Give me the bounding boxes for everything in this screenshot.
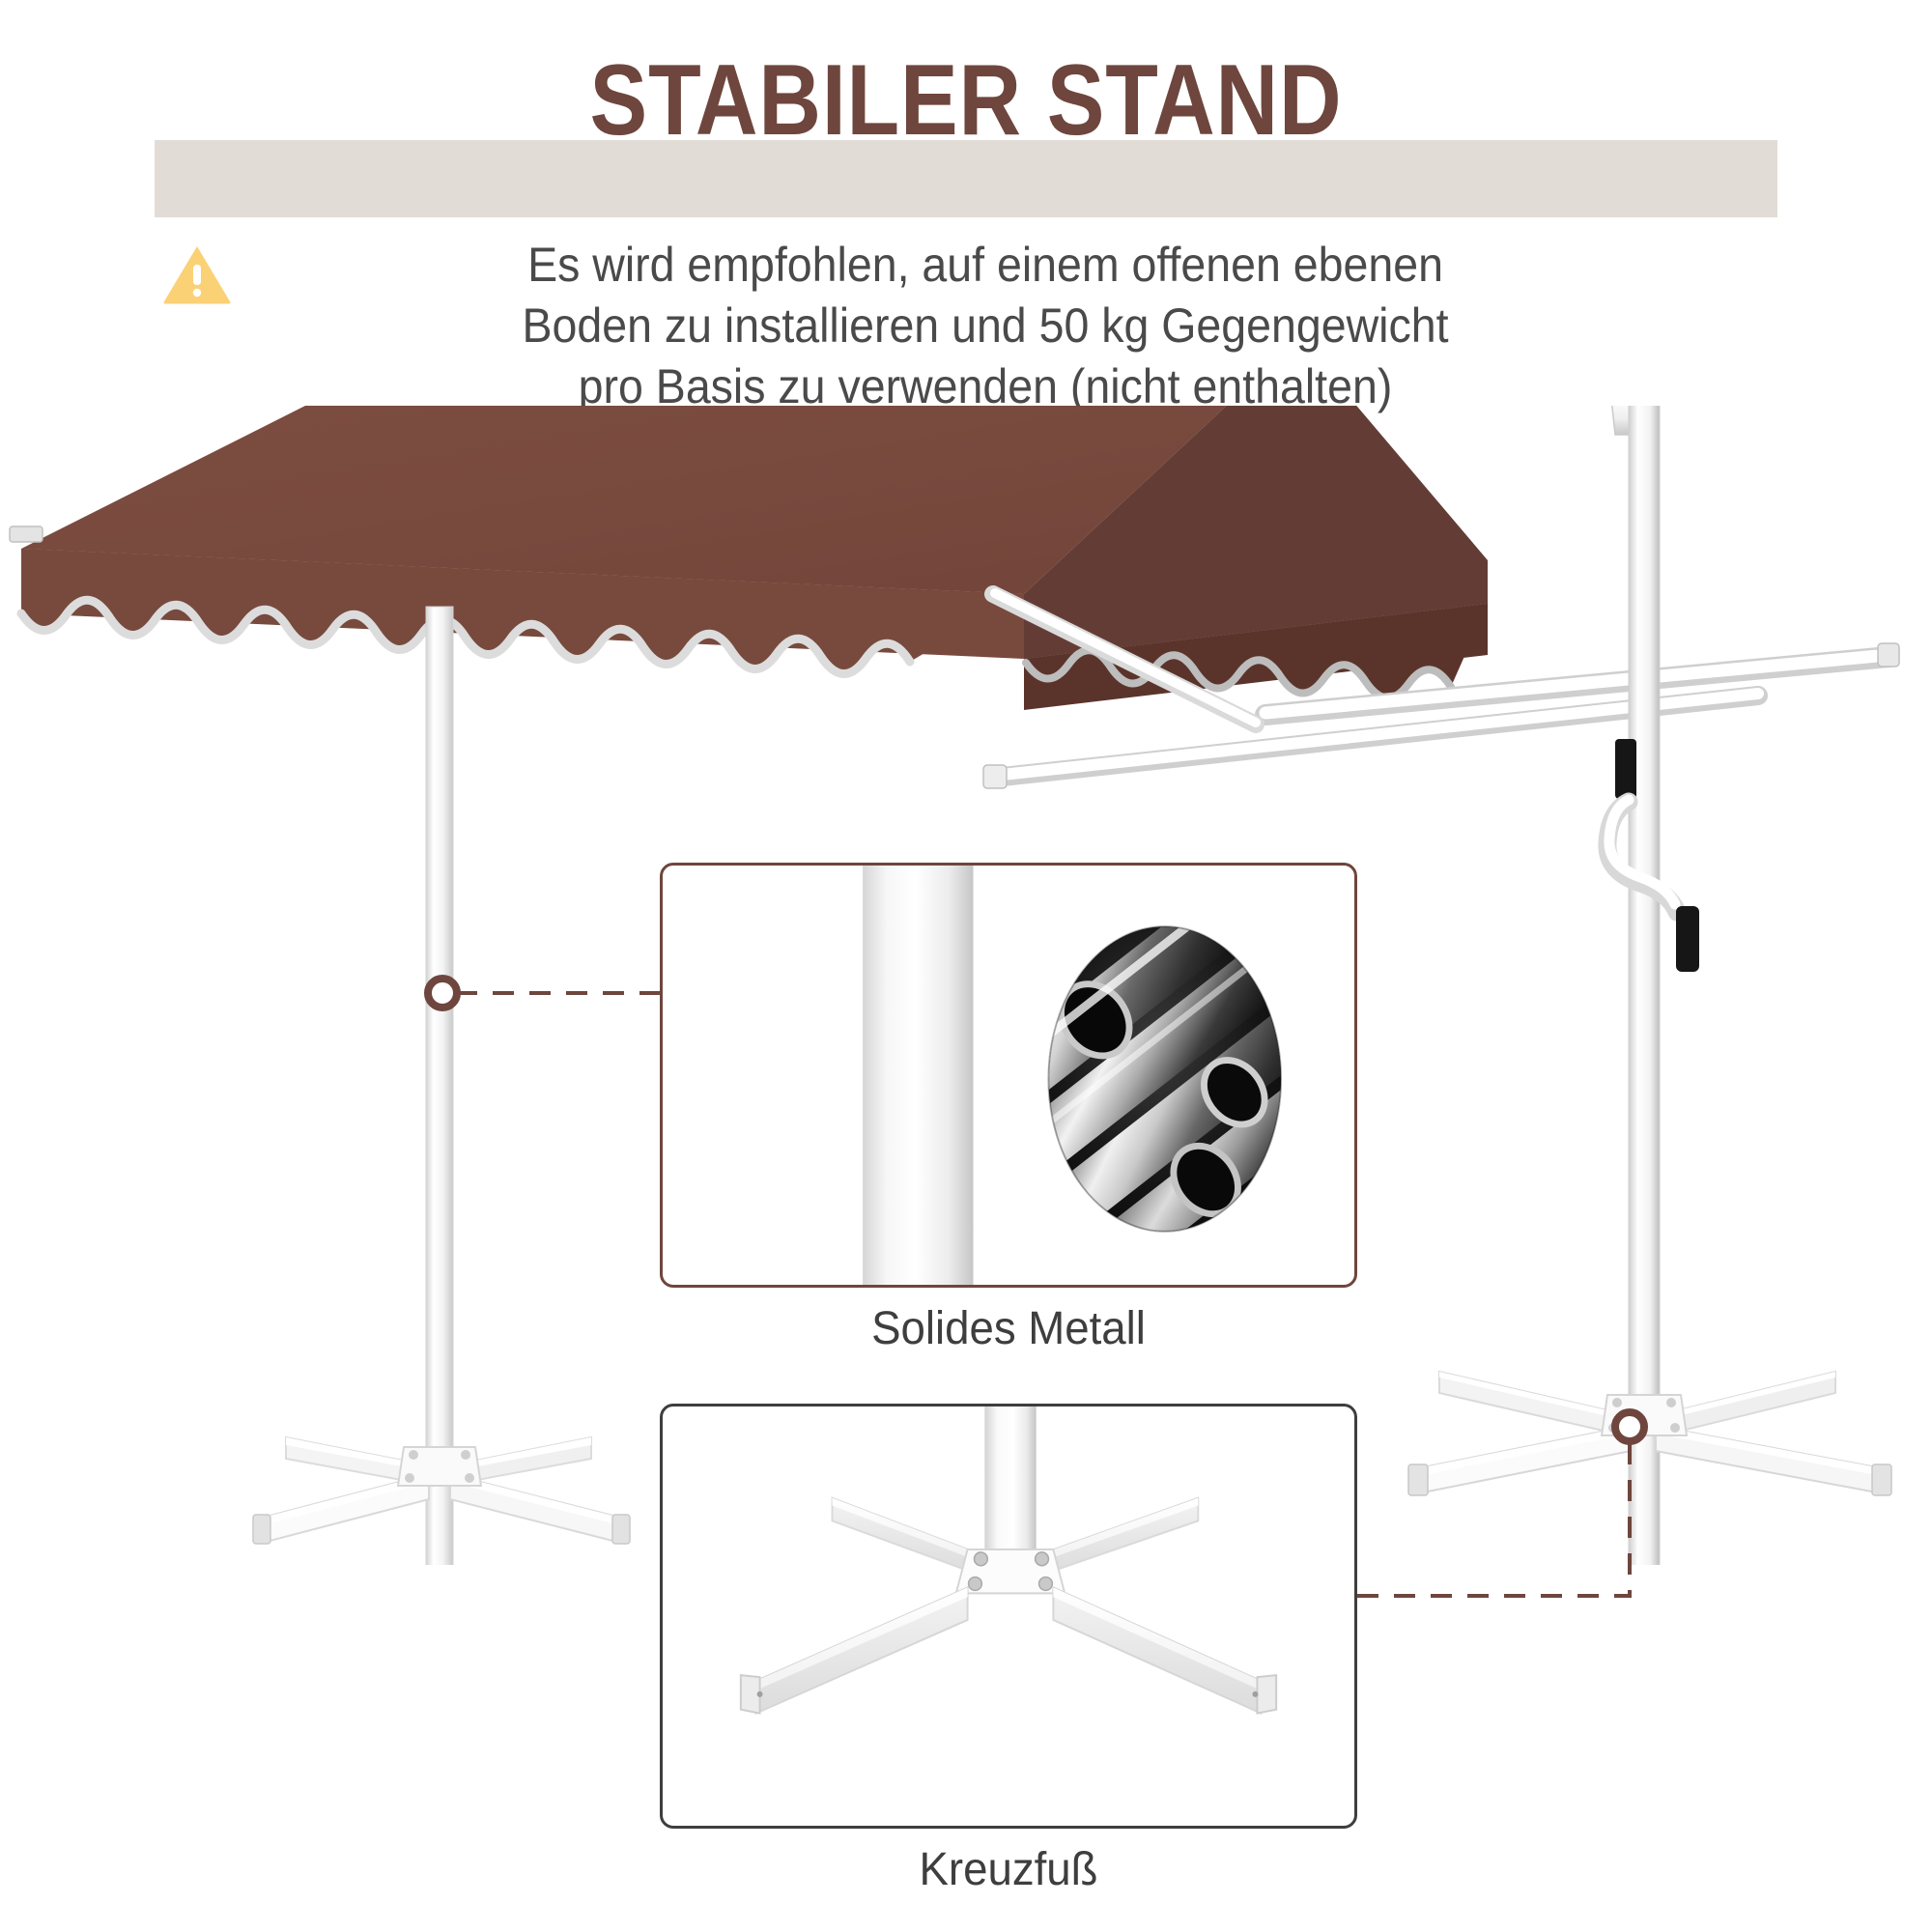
base-arm-back-right: [1038, 1498, 1199, 1577]
subtitle-text: Es wird empfohlen, auf einem offenen ebe…: [411, 235, 1560, 417]
callout-solid-metal: [660, 863, 1357, 1288]
steel-tubes-photo: [921, 866, 1354, 1285]
base-arm-back-left: [833, 1498, 983, 1577]
pole-clamp-grip: [1615, 739, 1636, 799]
cross-base-artwork: [663, 1406, 1354, 1826]
pole-closeup: [863, 866, 973, 1285]
left-rail-tip: [10, 526, 43, 542]
subtitle-line-2: Boden zu installieren und 50 kg Gegengew…: [411, 296, 1560, 356]
callout-cross-base: [660, 1404, 1357, 1829]
crank-grip: [1676, 906, 1699, 972]
right-support-pole: [1615, 406, 1660, 1565]
base-arm-front-left: [741, 1587, 968, 1713]
callout-label-cross-base: Kreuzfuß: [677, 1843, 1340, 1896]
base-hub-plate: [956, 1549, 1065, 1593]
left-support-pole: [426, 607, 453, 1565]
subtitle-line-1: Es wird empfohlen, auf einem offenen ebe…: [411, 235, 1560, 296]
infographic-canvas: STABILER STAND Es wird empfohlen, auf ei…: [0, 0, 1932, 1932]
callout-label-solid-metal: Solides Metall: [677, 1302, 1340, 1355]
base-arm-front-right: [1053, 1587, 1276, 1713]
page-title: STABILER STAND: [135, 50, 1797, 151]
solid-metal-artwork: [663, 866, 1354, 1285]
warning-triangle-icon: [162, 243, 232, 305]
